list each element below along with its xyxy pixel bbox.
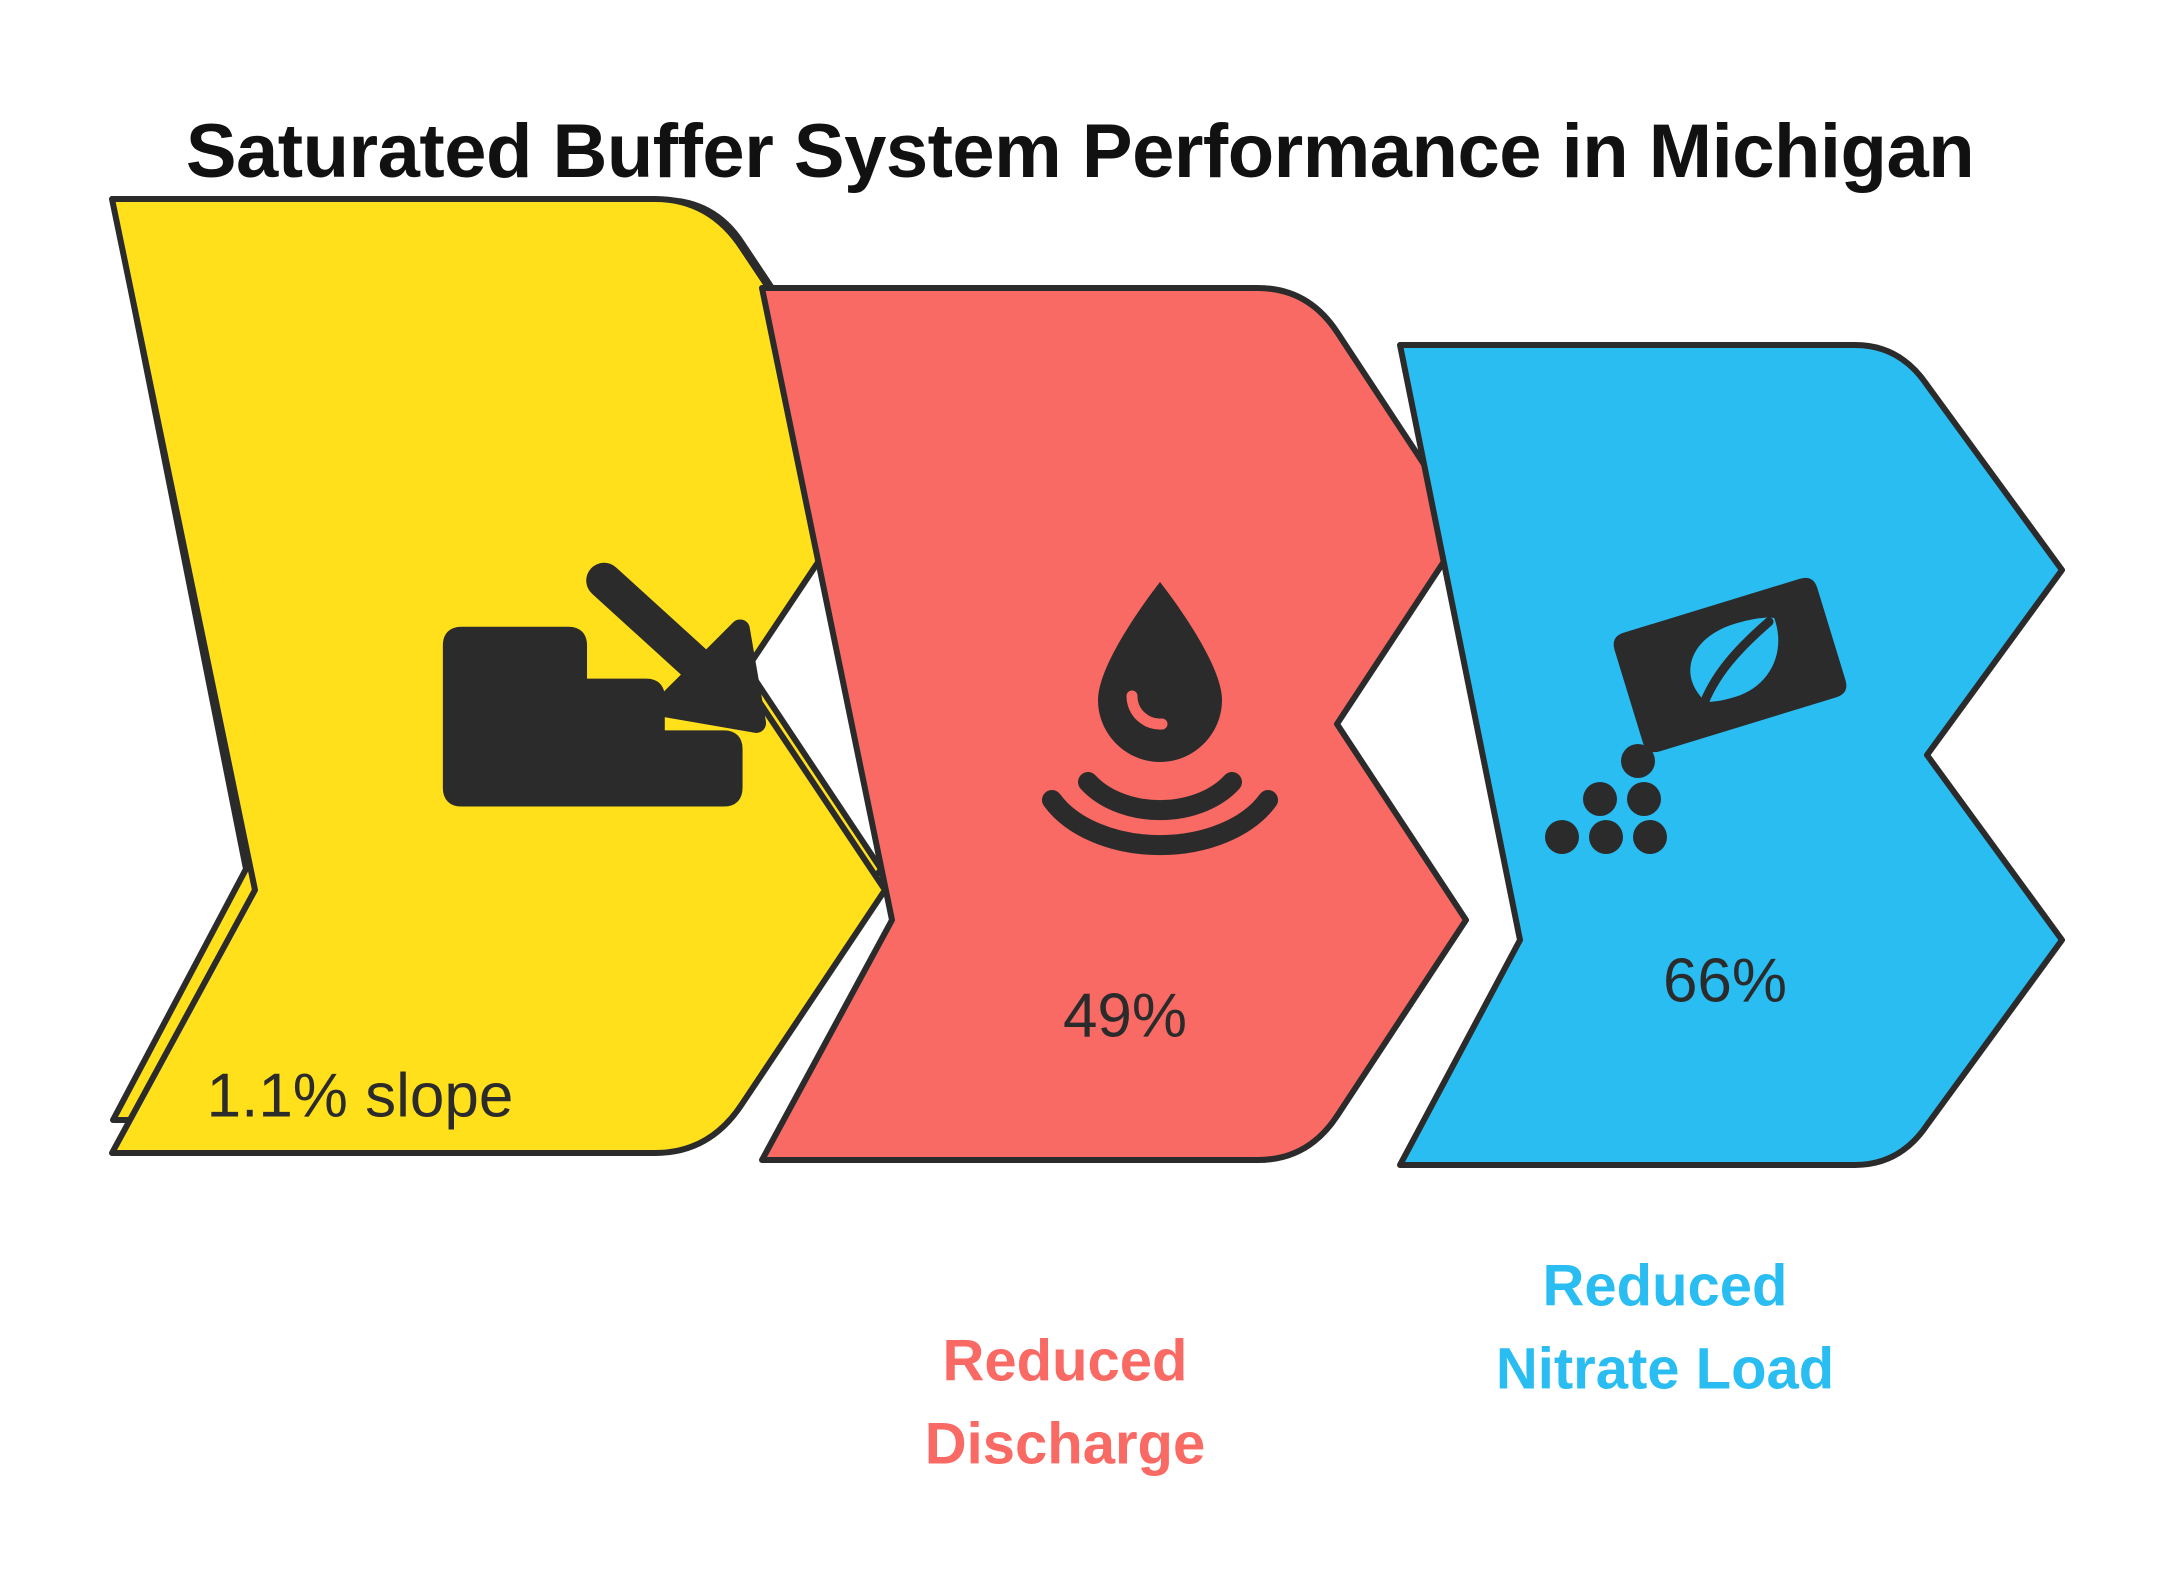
- stage-caption-nitrate: Reduced Nitrate Load: [1496, 1253, 1834, 1401]
- funnel-chevron-chart: 1.1% slope 49% 66% Reduced Discharge Red…: [0, 0, 2160, 1585]
- stage-caption-discharge-line1: Reduced: [943, 1328, 1188, 1393]
- chevron-shape-blue[interactable]: [1400, 345, 2062, 1165]
- stage-value-discharge: 49%: [1063, 981, 1187, 1050]
- stage-caption-discharge: Reduced Discharge: [925, 1328, 1205, 1476]
- stage-value-nitrate: 66%: [1663, 946, 1787, 1015]
- stage-caption-discharge-line2: Discharge: [925, 1411, 1205, 1476]
- stage-value-slope: 1.1% slope: [207, 1061, 514, 1130]
- stage-caption-nitrate-line1: Reduced: [1543, 1253, 1788, 1318]
- stage-caption-nitrate-line2: Nitrate Load: [1496, 1336, 1834, 1401]
- infographic-canvas: Saturated Buffer System Performance in M…: [0, 0, 2160, 1585]
